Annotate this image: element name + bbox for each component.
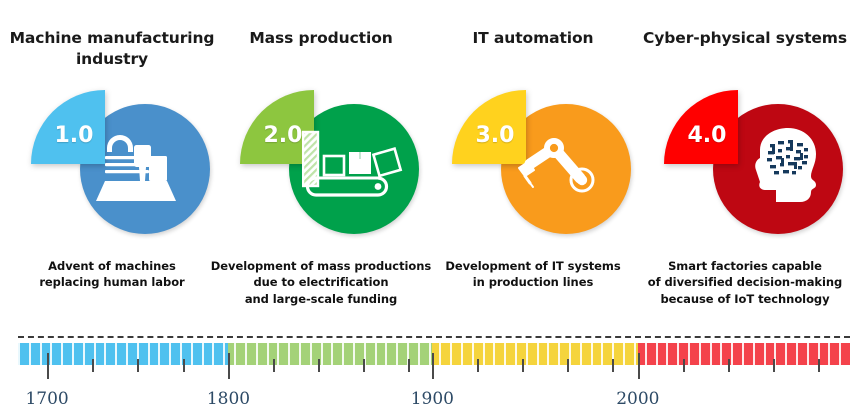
stage-caption-3: Development of IT systems in production …: [422, 258, 644, 291]
timeline-dashed-rule: [18, 336, 850, 338]
timeline-segment: [228, 343, 432, 365]
caption-line: Advent of machines replacing human labor: [39, 259, 184, 289]
timeline-year-label: 2000: [616, 389, 659, 409]
stage-caption-1: Advent of machines replacing human labor: [1, 258, 223, 291]
stage-title-2: Mass production: [214, 28, 428, 49]
robot-arm-icon: [514, 126, 618, 210]
brain-head-icon: [726, 126, 830, 210]
conveyor-belt-icon: [302, 126, 406, 210]
stage-title-3: IT automation: [426, 28, 640, 49]
stage-graphic-4: 4.0: [638, 88, 852, 234]
timeline-segment: [432, 343, 638, 365]
stage-column-3: IT automation 3.0: [426, 0, 640, 320]
timeline-segment: [18, 343, 228, 365]
caption-line: Smart factories capable of diversified d…: [648, 259, 843, 306]
machine-press-icon: [93, 126, 197, 210]
stage-column-2: Mass production 2.0: [214, 0, 428, 320]
timeline-segment: [638, 343, 850, 365]
caption-line: Development of IT systems in production …: [445, 259, 620, 289]
timeline-bar: [18, 343, 850, 365]
timeline-year-label: 1700: [25, 389, 68, 409]
stage-graphic-2: 2.0: [214, 88, 428, 234]
timeline: 1700180019002000: [0, 330, 856, 409]
caption-line: Development of mass productions due to e…: [211, 259, 431, 306]
stage-column-1: Machine manufacturing industry 1.0: [5, 0, 219, 320]
infographic-canvas: Machine manufacturing industry 1.0: [0, 0, 856, 409]
stage-graphic-3: 3.0: [426, 88, 640, 234]
stage-graphic-1: 1.0: [5, 88, 219, 234]
stage-title-1: Machine manufacturing industry: [5, 28, 219, 70]
stage-title-4: Cyber-physical systems: [638, 28, 852, 49]
stage-caption-4: Smart factories capable of diversified d…: [634, 258, 856, 307]
stage-column-4: Cyber-physical systems 4.0: [638, 0, 852, 320]
timeline-year-label: 1900: [411, 389, 454, 409]
timeline-year-label: 1800: [207, 389, 250, 409]
stage-caption-2: Development of mass productions due to e…: [210, 258, 432, 307]
